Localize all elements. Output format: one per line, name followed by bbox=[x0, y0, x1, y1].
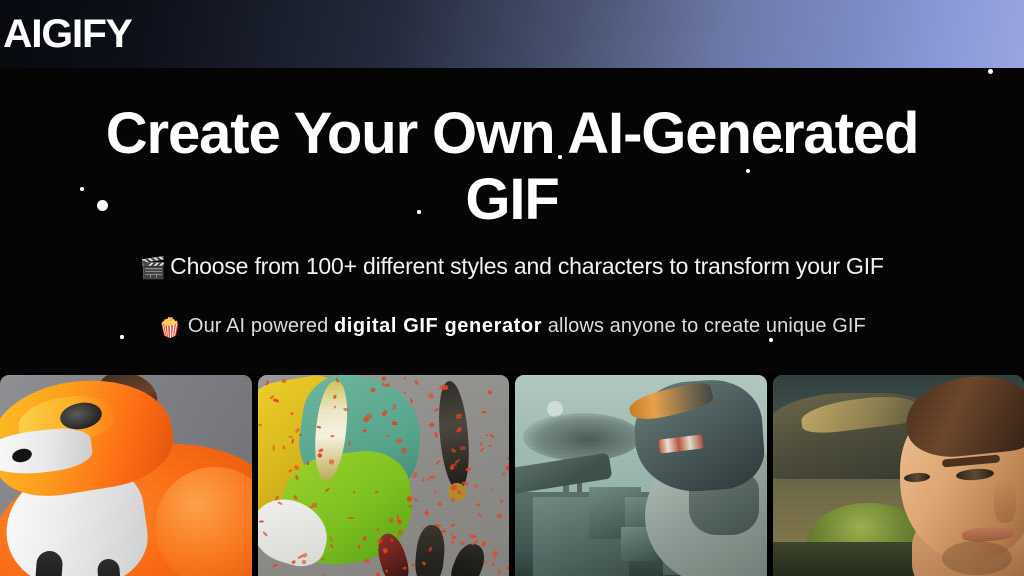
paint-speck bbox=[289, 435, 293, 437]
landing-page: AIGIFY Create Your Own AI-Generated GIF … bbox=[0, 0, 1024, 576]
brand-logo[interactable]: AIGIFY bbox=[3, 14, 132, 54]
hero-subtitle-styles: 🎬Choose from 100+ different styles and c… bbox=[0, 253, 1024, 281]
paint-speck bbox=[281, 378, 286, 383]
hero-subtitle-suffix: allows anyone to create unique GIF bbox=[542, 315, 866, 337]
paint-speck bbox=[291, 439, 294, 444]
hero-subtitle-styles-text: Choose from 100+ different styles and ch… bbox=[170, 253, 884, 279]
paint-speck bbox=[460, 446, 466, 451]
clapper-board-icon: 🎬 bbox=[140, 257, 166, 280]
hero-subtitle-generator: 🍿Our AI powered digital GIF generator al… bbox=[0, 315, 1024, 340]
paint-speck bbox=[381, 376, 386, 381]
gallery-card-abstract-banana-painting[interactable] bbox=[258, 375, 510, 576]
paint-speck bbox=[299, 434, 302, 436]
header-sheen bbox=[0, 0, 1024, 68]
hero-section: Create Your Own AI-Generated GIF 🎬Choose… bbox=[0, 68, 1024, 375]
paint-speck bbox=[398, 530, 403, 535]
hero-subtitle-highlight: digital GIF generator bbox=[334, 315, 542, 337]
paint-speck bbox=[273, 445, 275, 451]
hero-subtitle-prefix: Our AI powered bbox=[188, 315, 334, 337]
paint-speck bbox=[389, 518, 394, 523]
paint-speck bbox=[451, 534, 454, 540]
paint-speck bbox=[302, 560, 306, 564]
paint-speck bbox=[330, 434, 335, 437]
gallery-card-3d-fox-character[interactable] bbox=[0, 375, 252, 576]
3d-fox-character-image bbox=[0, 375, 252, 576]
page-title: Create Your Own AI-Generated GIF bbox=[0, 101, 1024, 233]
sci-fi-soldier-concept-image bbox=[515, 375, 767, 576]
popcorn-icon: 🍿 bbox=[158, 318, 182, 339]
paint-speck bbox=[377, 528, 379, 532]
paint-speck bbox=[403, 377, 405, 380]
portrait-man-mountains-image bbox=[773, 375, 1024, 576]
gallery-strip bbox=[0, 375, 1024, 576]
paint-speck bbox=[348, 441, 350, 446]
gallery-card-sci-fi-soldier-concept[interactable] bbox=[515, 375, 767, 576]
paint-speck bbox=[328, 458, 335, 464]
abstract-banana-painting-image bbox=[258, 375, 510, 576]
paint-speck bbox=[309, 505, 313, 507]
paint-speck bbox=[386, 434, 390, 436]
paint-speck bbox=[397, 514, 399, 520]
site-header: AIGIFY bbox=[0, 0, 1024, 68]
paint-speck bbox=[492, 563, 495, 566]
hero-particle bbox=[988, 69, 993, 74]
gallery-card-portrait-man-mountains[interactable] bbox=[773, 375, 1024, 576]
